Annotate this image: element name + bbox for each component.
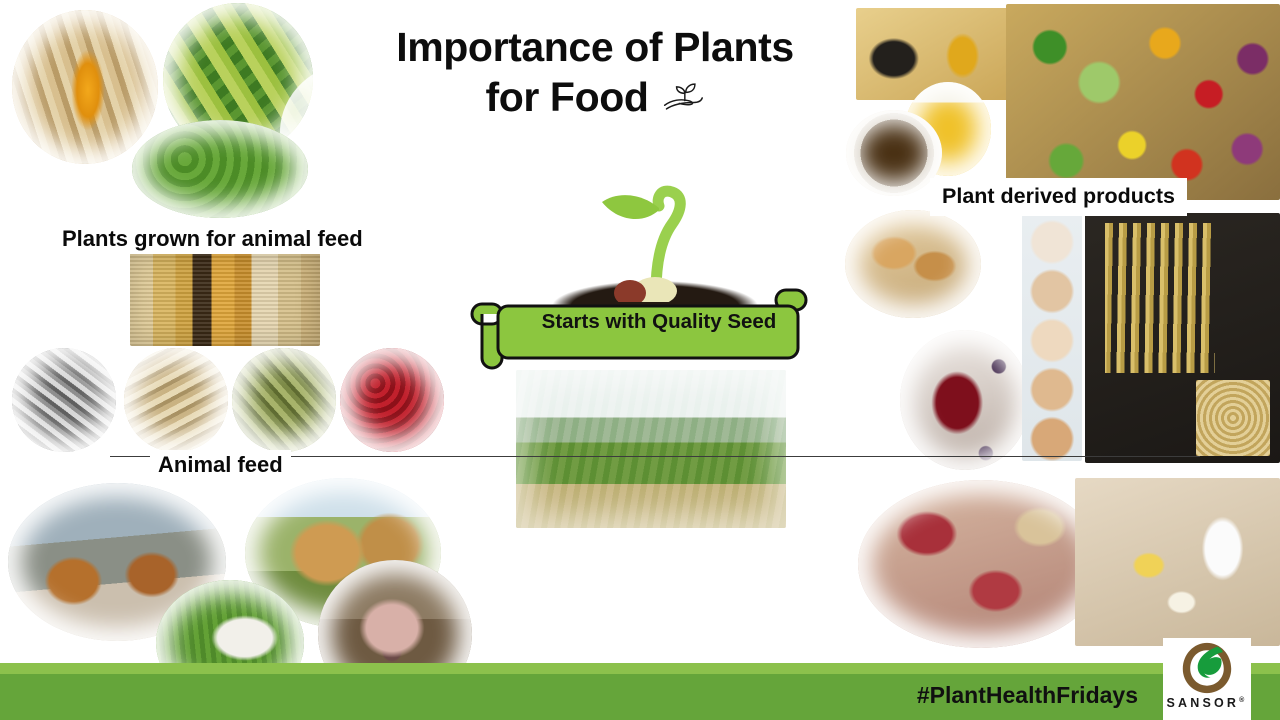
footer-light-stripe (0, 663, 1280, 674)
title-line-1: Importance of Plants (360, 22, 830, 72)
label-animal-feed: Animal feed (150, 450, 291, 480)
pasta-nest-photo (1196, 380, 1270, 456)
sansor-logo: SANSOR® (1163, 638, 1251, 720)
banner-text: Starts with Quality Seed (514, 310, 804, 334)
dairy-products-photo (1075, 478, 1280, 646)
red-wine-grapes-photo (900, 330, 1030, 470)
red-pellets-photo (340, 348, 444, 452)
tan-pellets-photo (124, 348, 228, 452)
stacked-eggs-photo (1022, 215, 1082, 461)
slide-canvas: Plants grown for animal feed Animal feed… (0, 0, 1280, 720)
hashtag-label: #PlantHealthFridays (917, 682, 1138, 709)
sansor-wordmark: SANSOR® (1166, 696, 1247, 710)
vegetables-medley-photo (1006, 4, 1280, 200)
sansor-word-text: SANSOR (1166, 696, 1239, 710)
page-title: Importance of Plants for Food (360, 22, 830, 122)
seedling-sprout-graphic (560, 152, 750, 302)
mixed-grains-strip-texture (130, 253, 320, 346)
title-line-2-row: for Food (360, 72, 830, 122)
vineyard-landscape-photo (516, 370, 786, 528)
raw-meat-photo (858, 480, 1104, 648)
green-pellets-photo (232, 348, 336, 452)
sprout-in-hand-icon (661, 80, 705, 114)
sansor-droplet-icon (1179, 641, 1235, 695)
grey-pellets-photo (12, 348, 116, 452)
alfalfa-plant-photo (132, 120, 308, 218)
maize-cob-photo (12, 10, 158, 164)
quality-seed-banner: Starts with Quality Seed (468, 288, 816, 374)
label-plant-derived-products: Plant derived products (930, 178, 1187, 216)
label-plants-grown-for-animal-feed: Plants grown for animal feed (56, 224, 369, 254)
registered-mark: ® (1239, 697, 1247, 704)
bread-rolls-photo (845, 210, 981, 318)
title-line-2-text: for Food (485, 72, 648, 122)
tea-cup-photo (846, 110, 942, 196)
